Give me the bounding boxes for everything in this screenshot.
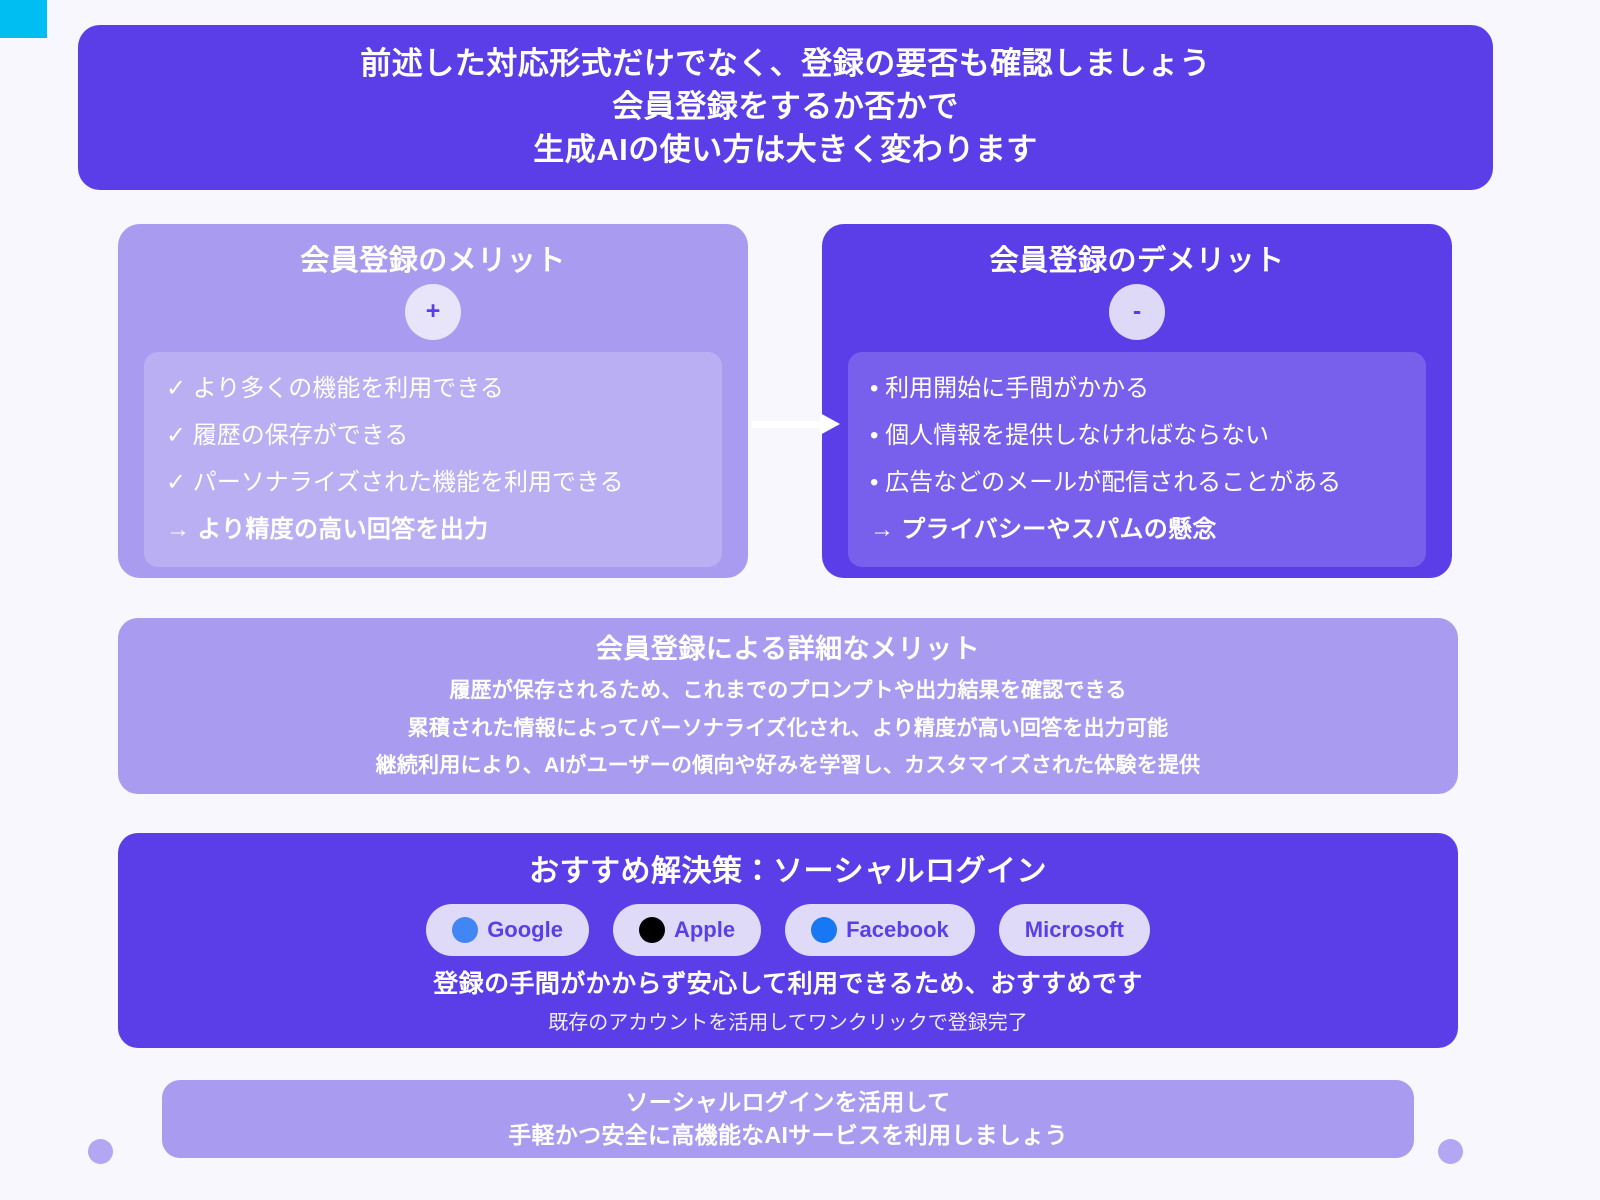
merit-list-item: ✓ パーソナライズされた機能を利用できる [166, 462, 700, 504]
social-login-lead: 登録の手間がかからず安心して利用できるため、おすすめです [433, 968, 1142, 1001]
merit-card-title: 会員登録のメリット [300, 246, 566, 278]
infographic-page: 前述した対応形式だけでなく、登録の要否も確認しましょう 会員登録をするか否かで … [0, 0, 1600, 1200]
facebook-icon [811, 917, 837, 943]
apple-icon [639, 917, 665, 943]
hero-banner: 前述した対応形式だけでなく、登録の要否も確認しましょう 会員登録をするか否かで … [78, 25, 1493, 190]
hero-line-2: 会員登録をするか否かで [612, 86, 959, 129]
provider-chip-label: Facebook [846, 917, 949, 943]
provider-chip-facebook[interactable]: Facebook [785, 904, 975, 956]
provider-chip-apple[interactable]: Apple [613, 904, 761, 956]
detail-merits-line: 履歴が保存されるため、これまでのプロンプトや出力結果を確認できる [449, 672, 1126, 709]
arrow-right-icon [752, 413, 840, 435]
hero-line-1: 前述した対応形式だけでなく、登録の要否も確認しましょう [360, 43, 1211, 86]
detail-merits-line: 累積された情報によってパーソナライズ化され、より精度が高い回答を出力可能 [408, 710, 1169, 747]
google-icon [452, 917, 478, 943]
provider-chip-microsoft[interactable]: Microsoft [999, 904, 1150, 956]
demerit-list-item: • 個人情報を提供しなければならない [870, 415, 1404, 457]
social-login-band: おすすめ解決策：ソーシャルログイン Google Apple Facebook … [118, 833, 1458, 1048]
detail-merits-title: 会員登録による詳細なメリット [596, 627, 980, 666]
demerit-conclusion: → プライバシーやスパムの懸念 [870, 509, 1404, 551]
provider-chip-label: Microsoft [1025, 917, 1124, 943]
merit-conclusion: → より精度の高い回答を出力 [166, 509, 700, 551]
demerit-list-panel: • 利用開始に手間がかかる • 個人情報を提供しなければならない • 広告などの… [848, 352, 1426, 567]
footer-summary-band: ソーシャルログインを活用して 手軽かつ安全に高機能なAIサービスを利用しましょう [162, 1080, 1414, 1158]
social-login-sub: 既存のアカウントを活用してワンクリックで登録完了 [548, 1006, 1027, 1035]
demerit-card-title: 会員登録のデメリット [989, 246, 1284, 278]
plus-badge-icon: + [405, 284, 461, 340]
merit-list-item: ✓ より多くの機能を利用できる [166, 368, 700, 410]
merit-list-panel: ✓ より多くの機能を利用できる ✓ 履歴の保存ができる ✓ パーソナライズされた… [144, 352, 722, 567]
hero-line-3: 生成AIの使い方は大きく変わります [533, 129, 1038, 172]
detail-merits-band: 会員登録による詳細なメリット 履歴が保存されるため、これまでのプロンプトや出力結… [118, 618, 1458, 794]
provider-chip-label: Google [487, 917, 563, 943]
demerit-list-item: • 利用開始に手間がかかる [870, 368, 1404, 410]
cyan-square-decoration [0, 0, 47, 38]
minus-badge-icon: - [1109, 284, 1165, 340]
social-login-title: おすすめ解決策：ソーシャルログイン [529, 846, 1047, 890]
provider-chip-list: Google Apple Facebook Microsoft [426, 904, 1150, 956]
comparison-section: 会員登録のメリット + ✓ より多くの機能を利用できる ✓ 履歴の保存ができる … [118, 224, 1458, 578]
merit-list-item: ✓ 履歴の保存ができる [166, 415, 700, 457]
bottom-left-dot-decoration [88, 1139, 113, 1164]
footer-line-1: ソーシャルログインを活用して [625, 1086, 950, 1119]
bottom-right-dot-decoration [1438, 1139, 1463, 1164]
detail-merits-line: 継続利用により、AIがユーザーの傾向や好みを学習し、カスタマイズされた体験を提供 [376, 747, 1201, 784]
footer-line-2: 手軽かつ安全に高機能なAIサービスを利用しましょう [508, 1119, 1068, 1152]
provider-chip-google[interactable]: Google [426, 904, 589, 956]
demerit-list-item: • 広告などのメールが配信されることがある [870, 462, 1404, 504]
merit-card: 会員登録のメリット + ✓ より多くの機能を利用できる ✓ 履歴の保存ができる … [118, 224, 748, 578]
demerit-card: 会員登録のデメリット - • 利用開始に手間がかかる • 個人情報を提供しなけれ… [822, 224, 1452, 578]
provider-chip-label: Apple [674, 917, 735, 943]
